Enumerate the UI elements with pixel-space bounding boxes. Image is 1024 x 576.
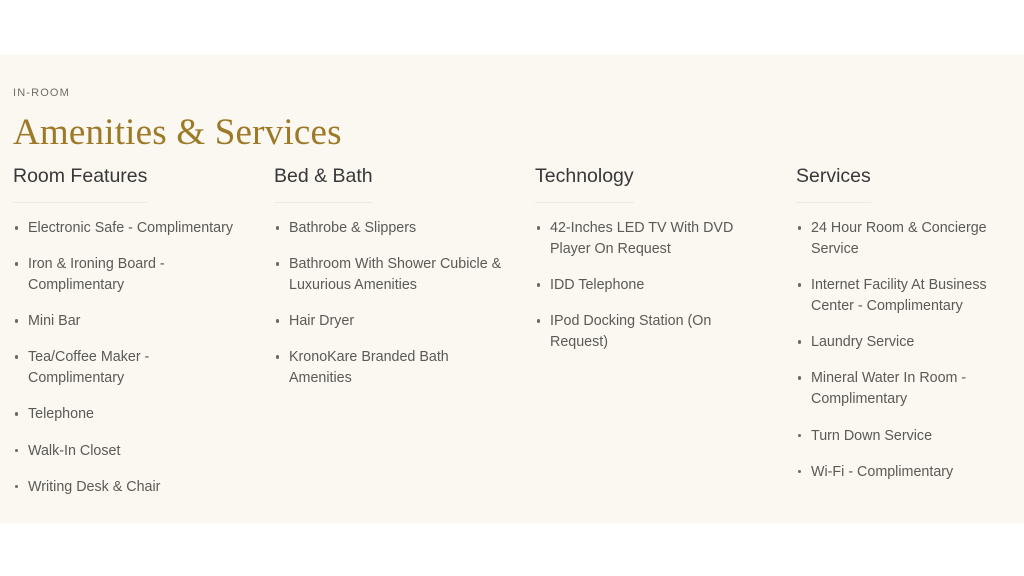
section-eyebrow: IN-ROOM	[13, 88, 342, 99]
bullet-icon	[798, 434, 801, 437]
page-title: Amenities & Services	[13, 113, 342, 153]
bullet-icon	[15, 226, 18, 229]
amenities-column-services: Services 24 Hour Room & Concierge Servic…	[783, 165, 1024, 483]
amenities-column-technology: Technology 42-Inches LED TV With DVD Pla…	[522, 165, 783, 353]
list-item-label: IDD Telephone	[550, 277, 644, 293]
list-item: Internet Facility At Business Center - C…	[796, 275, 1024, 317]
amenities-column-room-features: Room Features Electronic Safe - Complime…	[0, 165, 261, 498]
list-item: Mini Bar	[13, 311, 241, 332]
bullet-icon	[798, 226, 801, 229]
list-item: Laundry Service	[796, 332, 1024, 353]
bullet-icon	[15, 449, 18, 452]
bullet-icon	[798, 470, 801, 473]
column-divider	[796, 202, 871, 203]
list-item: KronoKare Branded Bath Amenities	[274, 347, 502, 389]
list-item: 42-Inches LED TV With DVD Player On Requ…	[535, 218, 763, 260]
column-divider	[274, 202, 373, 203]
amenity-list: 24 Hour Room & Concierge Service Interne…	[796, 218, 1024, 482]
list-item-label: Hair Dryer	[289, 313, 354, 329]
list-item: Tea/Coffee Maker - Complimentary	[13, 347, 241, 389]
bullet-icon	[15, 262, 18, 265]
list-item-label: IPod Docking Station (On Request)	[550, 313, 711, 350]
amenities-columns: Room Features Electronic Safe - Complime…	[0, 165, 1024, 498]
column-divider	[13, 202, 147, 203]
list-item: Turn Down Service	[796, 426, 1024, 447]
amenity-list: Electronic Safe - Complimentary Iron & I…	[13, 218, 241, 497]
bullet-icon	[537, 319, 540, 322]
list-item-label: Turn Down Service	[811, 428, 932, 444]
list-item-label: Mineral Water In Room - Complimentary	[811, 370, 966, 407]
list-item-label: Writing Desk & Chair	[28, 479, 160, 495]
list-item-label: Laundry Service	[811, 334, 914, 350]
list-item-label: Mini Bar	[28, 313, 80, 329]
bullet-icon	[276, 319, 279, 322]
bullet-icon	[276, 262, 279, 265]
list-item-label: Walk-In Closet	[28, 443, 120, 459]
list-item-label: Internet Facility At Business Center - C…	[811, 277, 987, 314]
list-item: IPod Docking Station (On Request)	[535, 311, 763, 353]
bullet-icon	[15, 485, 18, 488]
bullet-icon	[15, 355, 18, 358]
list-item-label: Iron & Ironing Board - Complimentary	[28, 256, 165, 293]
bullet-icon	[276, 355, 279, 358]
amenity-list: Bathrobe & Slippers Bathroom With Shower…	[274, 218, 502, 389]
bullet-icon	[798, 376, 801, 379]
list-item: Telephone	[13, 404, 241, 425]
list-item: IDD Telephone	[535, 275, 763, 296]
amenity-list: 42-Inches LED TV With DVD Player On Requ…	[535, 218, 763, 353]
bullet-icon	[15, 319, 18, 322]
list-item: 24 Hour Room & Concierge Service	[796, 218, 1024, 260]
bullet-icon	[798, 283, 801, 286]
list-item-label: KronoKare Branded Bath Amenities	[289, 349, 449, 386]
column-title: Technology	[535, 165, 634, 188]
list-item: Walk-In Closet	[13, 441, 241, 462]
list-item-label: Electronic Safe - Complimentary	[28, 220, 233, 236]
list-item: Hair Dryer	[274, 311, 502, 332]
amenities-column-bed-bath: Bed & Bath Bathrobe & Slippers Bathroom …	[261, 165, 522, 389]
list-item: Iron & Ironing Board - Complimentary	[13, 254, 241, 296]
bullet-icon	[537, 226, 540, 229]
bullet-icon	[798, 340, 801, 343]
list-item-label: Telephone	[28, 406, 94, 422]
column-divider	[535, 202, 634, 203]
list-item: Writing Desk & Chair	[13, 477, 241, 498]
list-item: Bathroom With Shower Cubicle & Luxurious…	[274, 254, 502, 296]
column-title: Bed & Bath	[274, 165, 373, 188]
panel-header: IN-ROOM Amenities & Services	[13, 88, 342, 153]
list-item-label: Bathroom With Shower Cubicle & Luxurious…	[289, 256, 501, 293]
column-title: Room Features	[13, 165, 147, 188]
bullet-icon	[537, 283, 540, 286]
bullet-icon	[276, 226, 279, 229]
list-item-label: 24 Hour Room & Concierge Service	[811, 220, 987, 257]
column-title: Services	[796, 165, 871, 188]
list-item: Bathrobe & Slippers	[274, 218, 502, 239]
list-item: Wi-Fi - Complimentary	[796, 462, 1024, 483]
list-item-label: Bathrobe & Slippers	[289, 220, 416, 236]
list-item-label: Wi-Fi - Complimentary	[811, 464, 953, 480]
amenities-panel: IN-ROOM Amenities & Services Room Featur…	[0, 55, 1024, 523]
list-item: Electronic Safe - Complimentary	[13, 218, 241, 239]
bullet-icon	[15, 412, 18, 415]
list-item-label: 42-Inches LED TV With DVD Player On Requ…	[550, 220, 733, 257]
list-item-label: Tea/Coffee Maker - Complimentary	[28, 349, 149, 386]
list-item: Mineral Water In Room - Complimentary	[796, 368, 1024, 410]
